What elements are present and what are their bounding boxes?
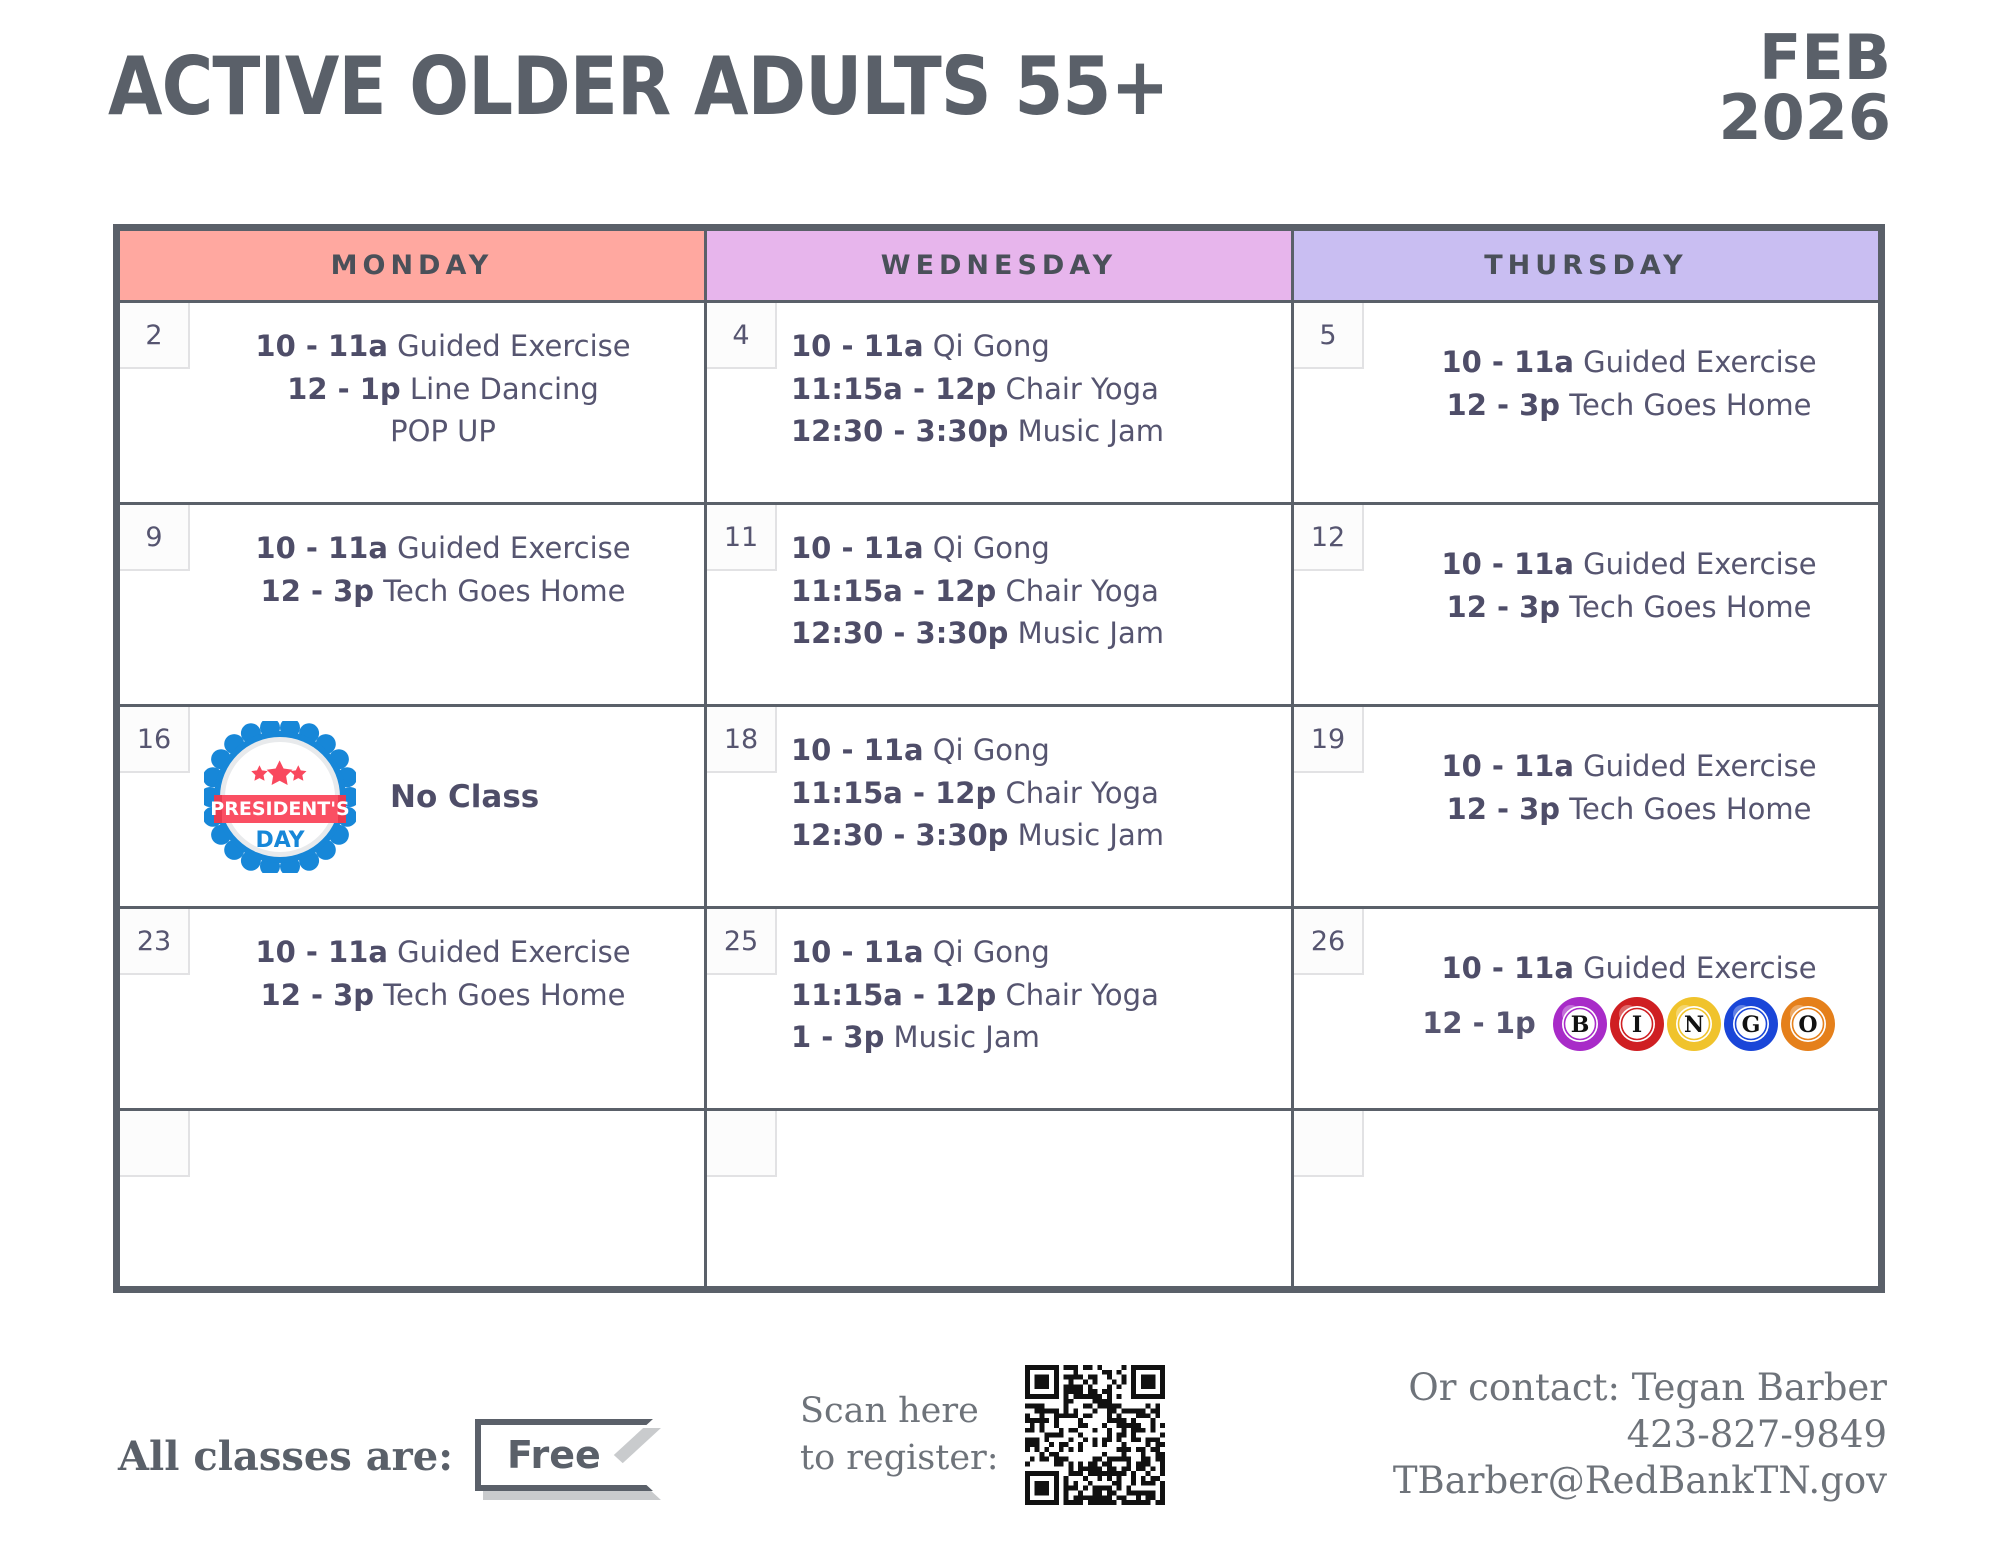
event-time: 12:30 - 3:30p: [791, 616, 1008, 650]
date-number: 26: [1294, 909, 1364, 975]
event-time: 11:15a - 12p: [791, 978, 996, 1012]
event-name: Tech Goes Home: [374, 978, 625, 1012]
contact-name-line: Or contact: Tegan Barber: [1393, 1365, 1887, 1412]
event-entry: 12 - 3p Tech Goes Home: [198, 974, 688, 1017]
calendar-cell-thursday[interactable]: [1293, 1110, 1880, 1288]
calendar-week-row: 16 PRESIDENT'S DAY No Class1810 - 11a Qi…: [119, 706, 1880, 908]
event-name: Guided Exercise: [1574, 547, 1817, 581]
event-entry: 1 - 3p Music Jam: [791, 1016, 1265, 1059]
calendar-week-row: 210 - 11a Guided Exercise12 - 1p Line Da…: [119, 302, 1880, 504]
free-classes-label: All classes are:: [118, 1433, 453, 1480]
event-entry: 12:30 - 3:30p Music Jam: [791, 814, 1265, 857]
calendar-week-row: 910 - 11a Guided Exercise12 - 3p Tech Go…: [119, 504, 1880, 706]
day-events: 10 - 11a Guided Exercise12 - 3p Tech Goe…: [1294, 505, 1878, 628]
date-number: 9: [120, 505, 190, 571]
event-entry: 12 - 3p Tech Goes Home: [1390, 586, 1868, 629]
event-name: Tech Goes Home: [374, 574, 625, 608]
column-header-wednesday: WEDNESDAY: [706, 230, 1293, 302]
no-class-label: No Class: [390, 779, 539, 815]
event-time: 10 - 11a: [1441, 951, 1574, 985]
scan-instructions: Scan here to register:: [800, 1388, 999, 1483]
calendar-cell-monday[interactable]: 210 - 11a Guided Exercise12 - 1p Line Da…: [119, 302, 706, 504]
date-number: 18: [707, 707, 777, 773]
event-entry: 10 - 11a Guided Exercise: [1390, 947, 1868, 990]
event-name: Music Jam: [1008, 616, 1164, 650]
calendar-cell-wednesday[interactable]: 1110 - 11a Qi Gong11:15a - 12p Chair Yog…: [706, 504, 1293, 706]
event-name: Guided Exercise: [1574, 951, 1817, 985]
event-name: Chair Yoga: [996, 978, 1159, 1012]
day-events: 10 - 11a Qi Gong11:15a - 12p Chair Yoga1…: [707, 909, 1291, 1059]
event-entry: 11:15a - 12p Chair Yoga: [791, 570, 1265, 613]
event-name: Qi Gong: [924, 935, 1050, 969]
event-time: 12 - 3p: [1447, 590, 1561, 624]
contact-block: Or contact: Tegan Barber 423-827-9849 TB…: [1393, 1365, 1887, 1505]
event-entry: 12:30 - 3:30p Music Jam: [791, 612, 1265, 655]
scan-line-1: Scan here: [800, 1388, 999, 1435]
event-name: Qi Gong: [924, 329, 1050, 363]
day-events: 10 - 11a Guided Exercise12 - 3p Tech Goe…: [120, 909, 704, 1016]
date-number: 2: [120, 303, 190, 369]
date-number: 25: [707, 909, 777, 975]
event-entry: 10 - 11a Guided Exercise: [198, 931, 688, 974]
scan-line-2: to register:: [800, 1435, 999, 1482]
calendar-cell-thursday[interactable]: 2610 - 11a Guided Exercise12 - 1p B I N …: [1293, 908, 1880, 1110]
calendar-header-row: MONDAY WEDNESDAY THURSDAY: [119, 230, 1880, 302]
event-entry: 10 - 11a Guided Exercise: [198, 527, 688, 570]
event-name: Tech Goes Home: [1560, 590, 1811, 624]
calendar-cell-monday[interactable]: 910 - 11a Guided Exercise12 - 3p Tech Go…: [119, 504, 706, 706]
day-events: 10 - 11a Guided Exercise12 - 1p B I N G …: [1294, 909, 1878, 1052]
svg-text:I: I: [1632, 1012, 1642, 1038]
calendar-cell-thursday[interactable]: 1910 - 11a Guided Exercise12 - 3p Tech G…: [1293, 706, 1880, 908]
event-name: Tech Goes Home: [1560, 388, 1811, 422]
event-time: 12 - 3p: [1447, 388, 1561, 422]
event-note: POP UP: [198, 410, 688, 453]
svg-text:B: B: [1570, 1012, 1589, 1038]
bingo-balls: B I N G O: [1552, 996, 1836, 1052]
qr-code-icon[interactable]: [1025, 1365, 1165, 1505]
calendar-grid: MONDAY WEDNESDAY THURSDAY 210 - 11a Guid…: [113, 224, 1885, 1293]
event-time: 12 - 1p: [287, 372, 401, 406]
bingo-ball-o: O: [1780, 996, 1836, 1052]
calendar-cell-wednesday[interactable]: [706, 1110, 1293, 1288]
page-header: ACTIVE OLDER ADULTS 55+ FEB 2026: [108, 18, 1891, 188]
event-entry: 12:30 - 3:30p Music Jam: [791, 410, 1265, 453]
date-number: 11: [707, 505, 777, 571]
free-ribbon-badge: Free: [475, 1419, 653, 1493]
bingo-event: 12 - 1p B I N G O: [1390, 990, 1868, 1052]
event-time: 11:15a - 12p: [791, 574, 996, 608]
day-events: 10 - 11a Guided Exercise12 - 1p Line Dan…: [120, 303, 704, 453]
page-footer: All classes are: Free Scan here to regis…: [0, 1345, 1999, 1545]
event-name: Qi Gong: [924, 531, 1050, 565]
svg-text:N: N: [1684, 1012, 1704, 1038]
event-entry: 10 - 11a Qi Gong: [791, 527, 1265, 570]
holiday-row: PRESIDENT'S DAY No Class: [120, 707, 704, 873]
day-events: 10 - 11a Guided Exercise12 - 3p Tech Goe…: [120, 505, 704, 612]
year-label: 2026: [1718, 88, 1891, 148]
event-entry: 10 - 11a Guided Exercise: [198, 325, 688, 368]
svg-text:G: G: [1741, 1012, 1760, 1038]
event-time: 10 - 11a: [1441, 345, 1574, 379]
page-title: ACTIVE OLDER ADULTS 55+: [108, 40, 1169, 133]
event-time: 10 - 11a: [791, 531, 924, 565]
date-number: [707, 1111, 777, 1177]
column-header-thursday: THURSDAY: [1293, 230, 1880, 302]
calendar-cell-wednesday[interactable]: 2510 - 11a Qi Gong11:15a - 12p Chair Yog…: [706, 908, 1293, 1110]
day-events: 10 - 11a Qi Gong11:15a - 12p Chair Yoga1…: [707, 505, 1291, 655]
calendar-cell-monday[interactable]: [119, 1110, 706, 1288]
event-name: Tech Goes Home: [1560, 792, 1811, 826]
svg-text:O: O: [1798, 1012, 1817, 1038]
event-name: Chair Yoga: [996, 372, 1159, 406]
bingo-ball-i: I: [1609, 996, 1665, 1052]
flyer-page: ACTIVE OLDER ADULTS 55+ FEB 2026 MONDAY …: [0, 0, 1999, 1545]
contact-email-line[interactable]: TBarber@RedBankTN.gov: [1393, 1458, 1887, 1505]
event-entry: 10 - 11a Qi Gong: [791, 931, 1265, 974]
month-year-block: FEB 2026: [1718, 28, 1891, 147]
event-name: Guided Exercise: [388, 531, 631, 565]
calendar-cell-monday[interactable]: 2310 - 11a Guided Exercise12 - 3p Tech G…: [119, 908, 706, 1110]
event-entry: 10 - 11a Guided Exercise: [1390, 341, 1868, 384]
date-number: 12: [1294, 505, 1364, 571]
event-name: Chair Yoga: [996, 776, 1159, 810]
calendar-cell-monday[interactable]: 16 PRESIDENT'S DAY No Class: [119, 706, 706, 908]
day-events: 10 - 11a Qi Gong11:15a - 12p Chair Yoga1…: [707, 303, 1291, 453]
date-number: 23: [120, 909, 190, 975]
bingo-ball-n: N: [1666, 996, 1722, 1052]
event-entry: 11:15a - 12p Chair Yoga: [791, 368, 1265, 411]
event-entry: 12 - 1p Line Dancing: [198, 368, 688, 411]
calendar-cell-thursday[interactable]: 1210 - 11a Guided Exercise12 - 3p Tech G…: [1293, 504, 1880, 706]
event-name: Music Jam: [884, 1020, 1040, 1054]
event-time: 12 - 3p: [1447, 792, 1561, 826]
event-time: 12 - 1p: [1422, 1002, 1536, 1045]
event-time: 12:30 - 3:30p: [791, 818, 1008, 852]
contact-phone-line: 423-827-9849: [1393, 1412, 1887, 1459]
scan-to-register-group: Scan here to register:: [800, 1365, 1165, 1505]
event-time: 10 - 11a: [255, 329, 388, 363]
date-number: 5: [1294, 303, 1364, 369]
event-time: 10 - 11a: [791, 935, 924, 969]
event-time: 1 - 3p: [791, 1020, 884, 1054]
event-time: 12 - 3p: [261, 574, 375, 608]
event-entry: 12 - 3p Tech Goes Home: [198, 570, 688, 613]
ribbon-label: Free: [507, 1433, 601, 1477]
event-time: 10 - 11a: [791, 329, 924, 363]
event-entry: 10 - 11a Guided Exercise: [1390, 543, 1868, 586]
event-time: 11:15a - 12p: [791, 776, 996, 810]
event-name: Qi Gong: [924, 733, 1050, 767]
event-time: 10 - 11a: [255, 531, 388, 565]
presidents-day-badge-icon: PRESIDENT'S DAY: [204, 721, 356, 873]
event-name: Guided Exercise: [1574, 749, 1817, 783]
event-entry: 12 - 3p Tech Goes Home: [1390, 384, 1868, 427]
bingo-ball-b: B: [1552, 996, 1608, 1052]
calendar-cell-wednesday[interactable]: 1810 - 11a Qi Gong11:15a - 12p Chair Yog…: [706, 706, 1293, 908]
event-entry: 12 - 3p Tech Goes Home: [1390, 788, 1868, 831]
event-name: Chair Yoga: [996, 574, 1159, 608]
date-number: 16: [120, 707, 190, 773]
event-time: 10 - 11a: [1441, 547, 1574, 581]
calendar-week-row: 2310 - 11a Guided Exercise12 - 3p Tech G…: [119, 908, 1880, 1110]
event-time: 11:15a - 12p: [791, 372, 996, 406]
date-number: 4: [707, 303, 777, 369]
event-name: Guided Exercise: [1574, 345, 1817, 379]
event-name: Guided Exercise: [388, 935, 631, 969]
date-number: [120, 1111, 190, 1177]
event-time: 10 - 11a: [791, 733, 924, 767]
column-header-monday: MONDAY: [119, 230, 706, 302]
day-events: 10 - 11a Guided Exercise12 - 3p Tech Goe…: [1294, 707, 1878, 830]
event-entry: 10 - 11a Guided Exercise: [1390, 745, 1868, 788]
month-label: FEB: [1718, 28, 1891, 88]
svg-text:PRESIDENT'S: PRESIDENT'S: [210, 798, 349, 820]
free-classes-group: All classes are: Free: [118, 1419, 653, 1493]
event-entry: 10 - 11a Qi Gong: [791, 325, 1265, 368]
event-name: Guided Exercise: [388, 329, 631, 363]
event-time: 12 - 3p: [261, 978, 375, 1012]
event-entry: 11:15a - 12p Chair Yoga: [791, 772, 1265, 815]
event-time: 10 - 11a: [255, 935, 388, 969]
bingo-ball-g: G: [1723, 996, 1779, 1052]
date-number: [1294, 1111, 1364, 1177]
event-entry: 11:15a - 12p Chair Yoga: [791, 974, 1265, 1017]
event-name: Music Jam: [1008, 414, 1164, 448]
svg-text:DAY: DAY: [255, 828, 305, 853]
event-time: 10 - 11a: [1441, 749, 1574, 783]
calendar-cell-wednesday[interactable]: 410 - 11a Qi Gong11:15a - 12p Chair Yoga…: [706, 302, 1293, 504]
day-events: 10 - 11a Guided Exercise12 - 3p Tech Goe…: [1294, 303, 1878, 426]
event-entry: 10 - 11a Qi Gong: [791, 729, 1265, 772]
date-number: 19: [1294, 707, 1364, 773]
day-events: 10 - 11a Qi Gong11:15a - 12p Chair Yoga1…: [707, 707, 1291, 857]
calendar-cell-thursday[interactable]: 510 - 11a Guided Exercise12 - 3p Tech Go…: [1293, 302, 1880, 504]
calendar-week-row: [119, 1110, 1880, 1288]
event-time: 12:30 - 3:30p: [791, 414, 1008, 448]
event-name: Music Jam: [1008, 818, 1164, 852]
event-name: Line Dancing: [401, 372, 599, 406]
